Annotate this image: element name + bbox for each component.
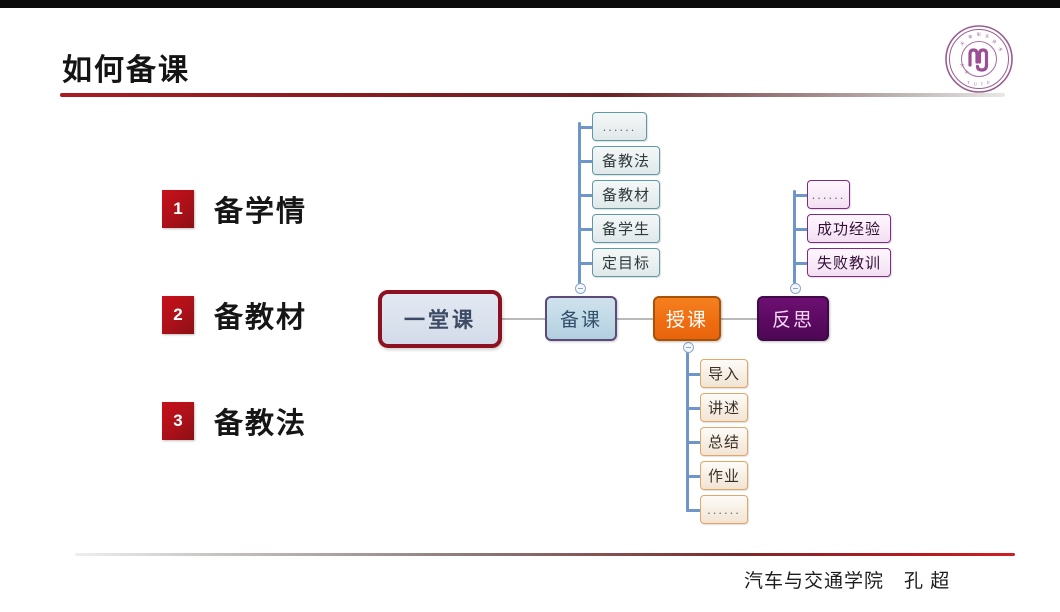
- mindmap-leaf-shouke-4[interactable]: ......: [700, 495, 748, 524]
- mindmap-leaf-beike-2[interactable]: 备教材: [592, 180, 660, 209]
- collapse-toggle-beike[interactable]: [575, 283, 586, 294]
- mindmap-leaf-beike-1[interactable]: 备教法: [592, 146, 660, 175]
- mindmap-leaf-beike-4[interactable]: 定目标: [592, 248, 660, 277]
- branch-trunk-beike: [578, 122, 581, 285]
- mindmap-leaf-fansi-2[interactable]: 失败教训: [807, 248, 891, 277]
- collapse-toggle-shouke[interactable]: [683, 342, 694, 353]
- mindmap-leaf-shouke-0[interactable]: 导入: [700, 359, 748, 388]
- mindmap-root-node[interactable]: 一堂课: [378, 290, 502, 348]
- mindmap-leaf-beike-0[interactable]: ......: [592, 112, 647, 141]
- connector-shouke-to-fansi: [720, 318, 758, 320]
- mindmap-diagram: 一堂课 备课 授课 反思 ...... 备教法 备教材 备学生 定目标 导入 讲…: [0, 0, 1060, 612]
- mindmap-leaf-fansi-0[interactable]: ......: [807, 180, 850, 209]
- mindmap-leaf-shouke-3[interactable]: 作业: [700, 461, 748, 490]
- mindmap-leaf-shouke-2[interactable]: 总结: [700, 427, 748, 456]
- branch-trunk-fansi: [793, 190, 796, 285]
- mindmap-node-shouke[interactable]: 授课: [653, 296, 721, 341]
- mindmap-node-beike[interactable]: 备课: [545, 296, 617, 341]
- connector-beike-to-shouke: [616, 318, 654, 320]
- mindmap-node-fansi[interactable]: 反思: [757, 296, 829, 341]
- mindmap-leaf-fansi-1[interactable]: 成功经验: [807, 214, 891, 243]
- footer-divider: [75, 553, 1015, 556]
- collapse-toggle-fansi[interactable]: [790, 283, 801, 294]
- footer-credit: 汽车与交通学院 孔 超: [744, 566, 950, 593]
- mindmap-leaf-shouke-1[interactable]: 讲述: [700, 393, 748, 422]
- mindmap-leaf-beike-3[interactable]: 备学生: [592, 214, 660, 243]
- slide-canvas: 如何备课 TU TE 天 津 职 业 技 术 学: [0, 0, 1060, 612]
